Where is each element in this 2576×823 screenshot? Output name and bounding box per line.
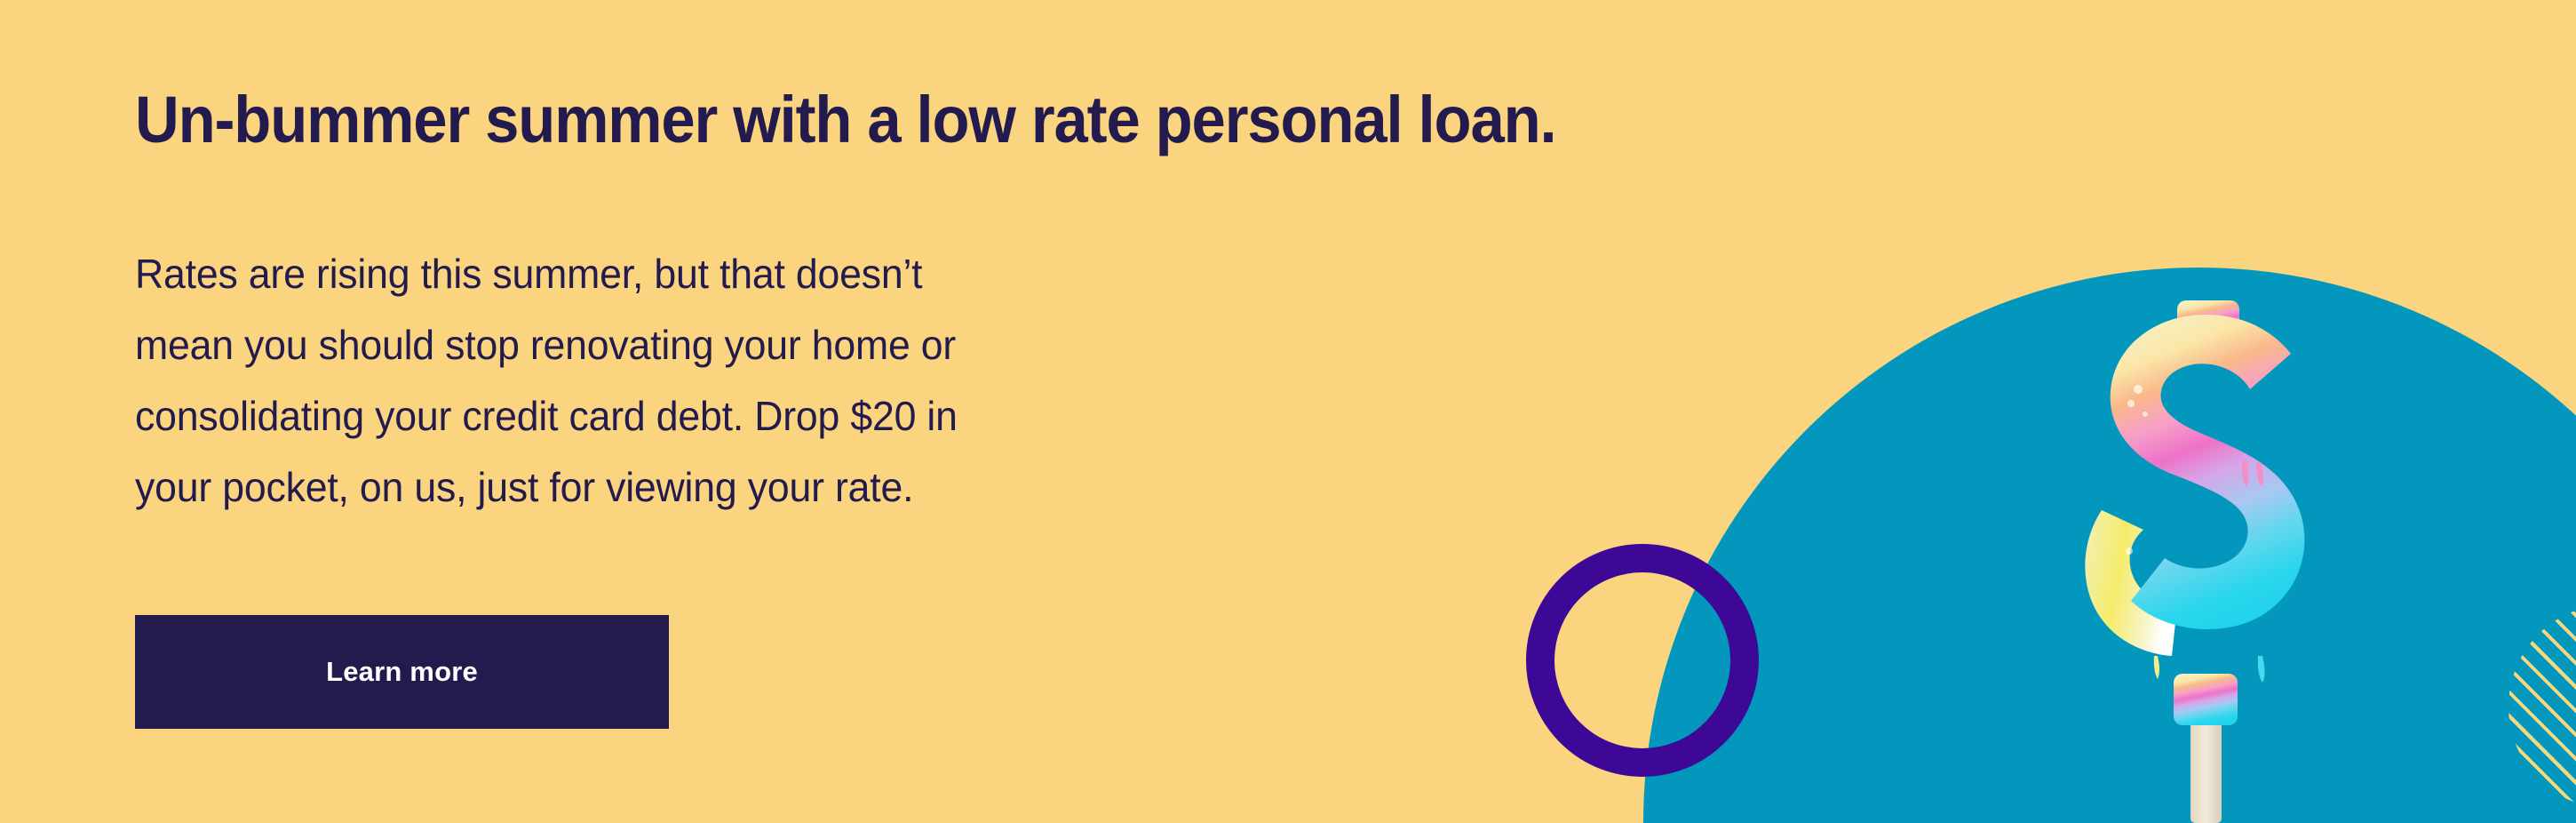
banner-body-text: Rates are rising this summer, but that d… <box>135 238 958 523</box>
banner-copy: Un-bummer summer with a low rate persona… <box>135 0 1379 823</box>
learn-more-button[interactable]: Learn more <box>135 615 669 729</box>
body-line-3: consolidating your credit card debt. Dro… <box>135 380 958 451</box>
banner-artwork <box>1403 0 2576 823</box>
body-line-1: Rates are rising this summer, but that d… <box>135 238 958 309</box>
promo-banner: Un-bummer summer with a low rate persona… <box>0 0 2576 823</box>
diagonal-hatch-lines <box>2508 604 2576 809</box>
learn-more-label: Learn more <box>326 656 478 688</box>
purple-ring-shape <box>1526 544 1759 777</box>
body-line-4: your pocket, on us, just for viewing you… <box>135 451 958 523</box>
hatched-circle-shape <box>2508 604 2576 809</box>
body-line-2: mean you should stop renovating your hom… <box>135 309 958 380</box>
dollar-sign-popsicle-image <box>2072 284 2339 823</box>
page-title: Un-bummer summer with a low rate persona… <box>135 87 1556 153</box>
